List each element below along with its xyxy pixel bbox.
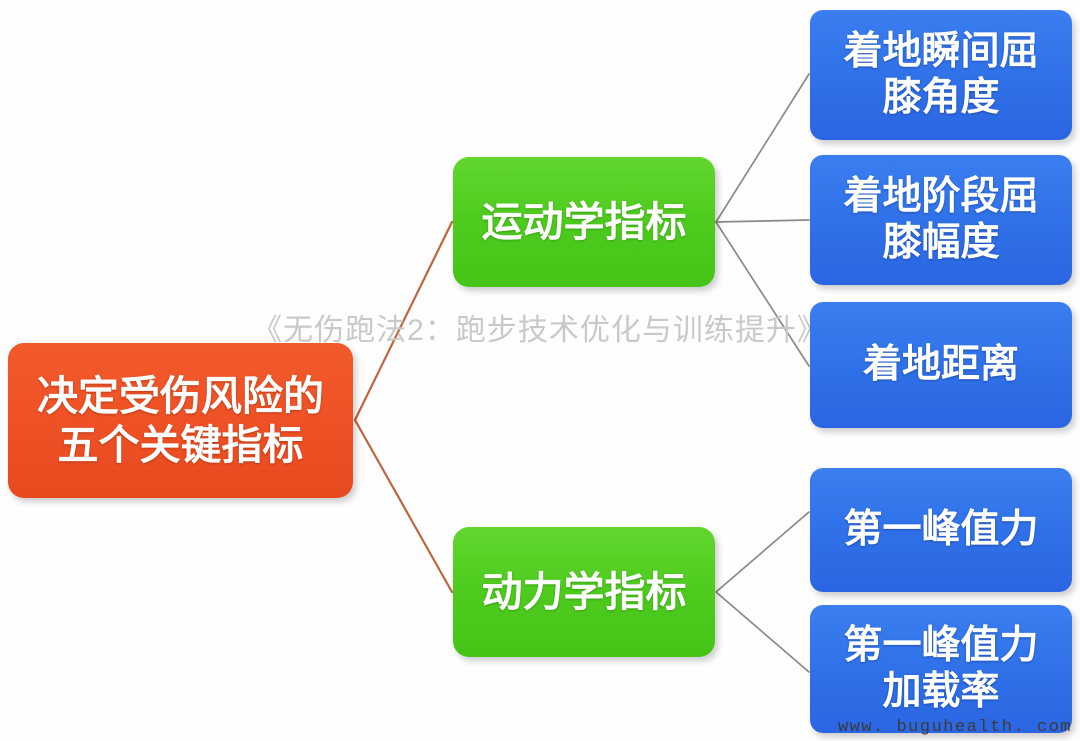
leaf-node-knee-flexion-range-stance[interactable]: 着地阶段屈 膝幅度 bbox=[810, 155, 1072, 285]
connector-kinematic-to-knee-angle bbox=[716, 74, 809, 222]
leaf-node-knee-flexion-angle-at-contact[interactable]: 着地瞬间屈 膝角度 bbox=[810, 10, 1072, 140]
site-url-watermark: www. buguhealth. com bbox=[838, 718, 1072, 737]
connector-kinetic-to-first-peak-force bbox=[716, 512, 809, 592]
connector-kinetic-to-loading-rate bbox=[716, 592, 809, 672]
leaf-node-first-peak-force-loading-rate[interactable]: 第一峰值力 加载率 bbox=[810, 605, 1072, 733]
root-node-key-indicators[interactable]: 决定受伤风险的 五个关键指标 bbox=[8, 343, 353, 498]
connector-kinematic-to-knee-range bbox=[716, 220, 809, 222]
branch-node-kinematic[interactable]: 运动学指标 bbox=[453, 157, 715, 287]
connector-root-to-kinetic bbox=[355, 420, 452, 592]
mind-map-canvas: 《无伤跑法2：跑步技术优化与训练提升》 决定受伤风险的 五个关键指标 运动学指标… bbox=[0, 0, 1080, 741]
leaf-node-landing-distance[interactable]: 着地距离 bbox=[810, 302, 1072, 428]
leaf-node-first-peak-force[interactable]: 第一峰值力 bbox=[810, 468, 1072, 592]
branch-node-kinetic[interactable]: 动力学指标 bbox=[453, 527, 715, 657]
